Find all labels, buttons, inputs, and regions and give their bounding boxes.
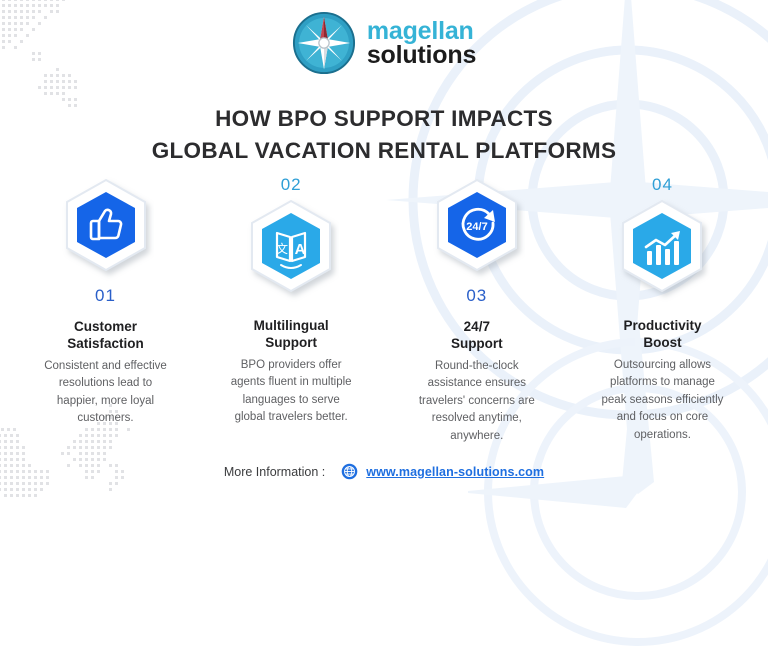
hexagon-badge-3: 24/7: [429, 176, 525, 282]
page-title-line1: HOW BPO SUPPORT IMPACTS: [0, 103, 768, 135]
page-title-line2: GLOBAL VACATION RENTAL PLATFORMS: [0, 135, 768, 167]
benefit-number-1: 01: [95, 287, 116, 304]
benefit-heading-4: Productivity Boost: [575, 317, 750, 351]
translate-icon: 文 A: [243, 197, 339, 303]
svg-text:文: 文: [276, 241, 288, 256]
website-link[interactable]: www.magellan-solutions.com: [366, 465, 544, 479]
benefit-number-2: 02: [281, 176, 302, 193]
footer: More Information : www.magellan-solution…: [0, 463, 768, 480]
compass-rose-icon: [292, 11, 356, 75]
svg-text:24/7: 24/7: [466, 221, 487, 233]
benefit-heading-3: 24/7 Support: [389, 318, 564, 352]
benefit-body-2: BPO providers offer agents fluent in mul…: [204, 357, 379, 427]
24-7-clock-icon: 24/7: [429, 176, 525, 282]
brand-name-line1: magellan: [367, 19, 476, 44]
benefit-number-4: 04: [652, 176, 673, 193]
brand-logo[interactable]: magellan solutions: [0, 11, 768, 75]
globe-icon: [341, 463, 358, 480]
benefit-card-4[interactable]: 04 Pr: [575, 176, 750, 444]
thumbs-up-icon: [58, 176, 154, 282]
benefit-body-1: Consistent and effective resolutions lea…: [18, 358, 193, 428]
hexagon-badge-2: 文 A: [243, 197, 339, 303]
benefit-heading-1: Customer Satisfaction: [18, 318, 193, 352]
benefit-heading-2: Multilingual Support: [204, 317, 379, 351]
benefit-card-1[interactable]: 01 Customer Satisfaction Consistent and …: [18, 176, 193, 428]
benefit-body-4: Outsourcing allows platforms to manage p…: [575, 357, 750, 444]
hexagon-badge-4: [614, 197, 710, 303]
benefits-row: 01 Customer Satisfaction Consistent and …: [18, 176, 750, 445]
benefit-card-2[interactable]: 02 文 A Multilingual: [204, 176, 379, 427]
brand-name-line2: solutions: [367, 43, 476, 68]
brand-wordmark: magellan solutions: [367, 19, 476, 68]
page-title: HOW BPO SUPPORT IMPACTS GLOBAL VACATION …: [0, 103, 768, 167]
benefit-card-3[interactable]: 24/7 03 24/7 Support Round-the-clock ass…: [389, 176, 564, 445]
benefit-number-3: 03: [466, 287, 487, 304]
benefit-body-3: Round-the-clock assistance ensures trave…: [389, 358, 564, 445]
more-information-label: More Information :: [224, 465, 325, 479]
hexagon-badge-1: [58, 176, 154, 282]
growth-chart-icon: [614, 197, 710, 303]
svg-text:A: A: [295, 241, 306, 258]
